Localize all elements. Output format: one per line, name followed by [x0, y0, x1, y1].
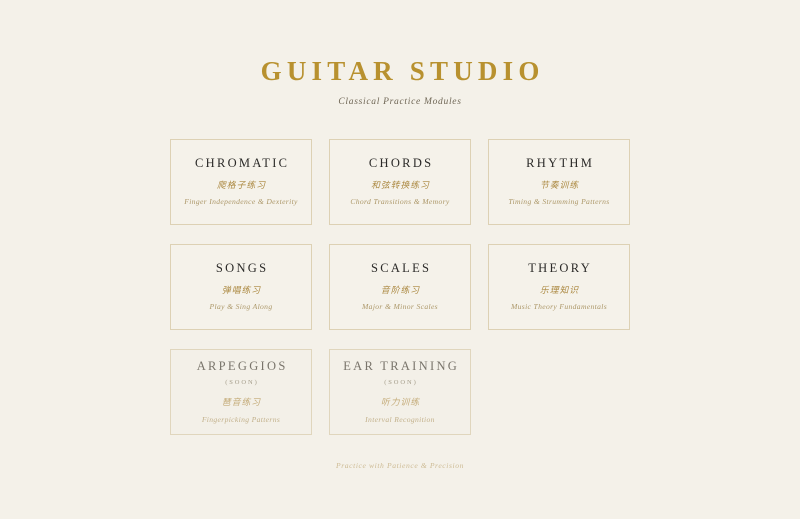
app-root: GUITAR STUDIO Classical Practice Modules… — [0, 0, 800, 519]
module-title: THEORY — [526, 262, 592, 275]
module-description: Timing & Strumming Patterns — [508, 198, 609, 206]
module-title: ARPEGGIOS — [194, 360, 287, 373]
module-title: SCALES — [369, 262, 432, 275]
module-card[interactable]: CHROMATIC爬格子练习Finger Independence & Dext… — [170, 139, 312, 225]
module-card[interactable]: THEORY乐理知识Music Theory Fundamentals — [488, 244, 630, 330]
module-card[interactable]: SONGS弹唱练习Play & Sing Along — [170, 244, 312, 330]
module-card[interactable]: CHORDS和弦转换练习Chord Transitions & Memory — [329, 139, 471, 225]
page-title: GUITAR STUDIO — [255, 58, 544, 85]
module-grid: CHROMATIC爬格子练习Finger Independence & Dext… — [170, 139, 630, 435]
module-card: ARPEGGIOS(SOON)琶音练习Fingerpicking Pattern… — [170, 349, 312, 435]
module-card: EAR TRAINING(SOON)听力训练Interval Recogniti… — [329, 349, 471, 435]
footer-note: Practice with Patience & Precision — [336, 462, 464, 470]
status-badge: (SOON) — [382, 380, 417, 387]
module-description: Interval Recognition — [365, 416, 435, 424]
module-title-chinese: 琶音练习 — [221, 399, 261, 408]
status-badge: (SOON) — [223, 380, 258, 387]
module-card[interactable]: SCALES音阶练习Major & Minor Scales — [329, 244, 471, 330]
module-title: EAR TRAINING — [341, 360, 459, 373]
module-title: CHROMATIC — [193, 157, 290, 170]
module-description: Fingerpicking Patterns — [202, 416, 280, 424]
module-title-chinese: 节奏训练 — [539, 182, 579, 191]
module-description: Major & Minor Scales — [362, 303, 438, 311]
module-description: Play & Sing Along — [210, 303, 273, 311]
module-title-chinese: 音阶练习 — [380, 287, 420, 296]
module-title-chinese: 爬格子练习 — [216, 182, 266, 191]
module-card[interactable]: RHYTHM节奏训练Timing & Strumming Patterns — [488, 139, 630, 225]
module-title: CHORDS — [367, 157, 434, 170]
module-description: Music Theory Fundamentals — [511, 303, 607, 311]
module-title-chinese: 和弦转换练习 — [370, 182, 430, 191]
module-description: Chord Transitions & Memory — [350, 198, 449, 206]
module-title: RHYTHM — [524, 157, 594, 170]
module-description: Finger Independence & Dexterity — [184, 198, 298, 206]
module-title: SONGS — [214, 262, 269, 275]
module-title-chinese: 弹唱练习 — [221, 287, 261, 296]
module-title-chinese: 乐理知识 — [539, 287, 579, 296]
module-title-chinese: 听力训练 — [380, 399, 420, 408]
page-subtitle: Classical Practice Modules — [338, 98, 461, 108]
